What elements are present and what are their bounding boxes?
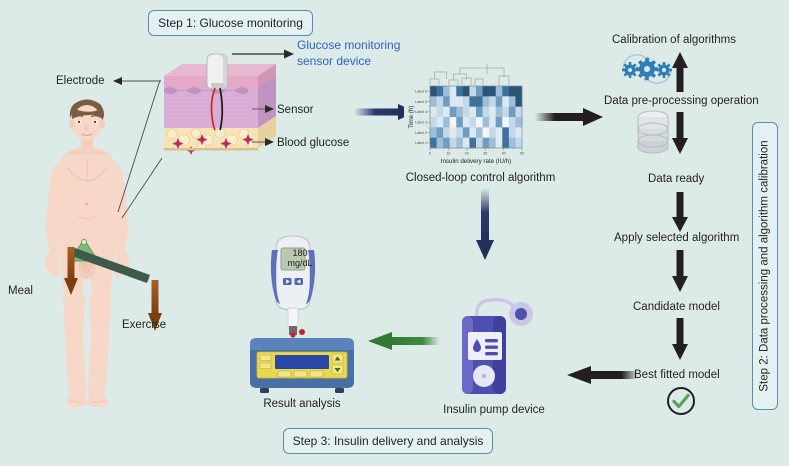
heatmap-cell xyxy=(463,127,470,138)
arrow-down-to-data-ready xyxy=(672,112,688,154)
heatmap-cell xyxy=(450,117,457,128)
heatmap-xtick: 50 xyxy=(520,152,524,156)
best-fitted-model-label: Best fitted model xyxy=(634,368,720,382)
heatmap-cell xyxy=(469,117,476,128)
heatmap-cell xyxy=(469,138,476,149)
sensor-device-arrow xyxy=(232,49,294,59)
step3-label-box: Step 3: Insulin delivery and analysis xyxy=(283,428,493,454)
heatmap-cell xyxy=(509,138,516,149)
sensor-device-icon xyxy=(207,54,227,89)
heatmap-cell xyxy=(463,107,470,118)
analyzer-illustration xyxy=(244,330,360,398)
heatmap-cell xyxy=(437,138,444,149)
step2-label-box: Step 2: Data processing and algorithm ca… xyxy=(752,122,778,410)
heatmap-cell xyxy=(450,96,457,107)
heatmap-cell xyxy=(450,138,457,149)
step3-label: Step 3: Insulin delivery and analysis xyxy=(293,434,484,448)
heatmap-ytick: Label 1 xyxy=(415,141,427,145)
heatmap-cell xyxy=(509,117,516,128)
heatmap-cell xyxy=(443,127,450,138)
heatmap-cell xyxy=(509,86,516,97)
heatmap-cell xyxy=(489,96,496,107)
heatmap-chart: Label 6Label 5Label 4Label 3Label 2Label… xyxy=(404,58,534,166)
heatmap-cell xyxy=(469,127,476,138)
heatmap-cell xyxy=(489,138,496,149)
heatmap-cells xyxy=(430,86,522,148)
human-legs-illustration xyxy=(28,296,146,408)
heatmap-cell xyxy=(515,127,522,138)
heatmap-xtick: 30 xyxy=(483,152,487,156)
arrow-up-to-calibration xyxy=(672,52,688,92)
heatmap-cell xyxy=(463,117,470,128)
heatmap-cell xyxy=(437,127,444,138)
arrow-down-to-best-model xyxy=(672,318,688,360)
heatmap-cell xyxy=(509,107,516,118)
heatmap-cell xyxy=(463,86,470,97)
heatmap-cell xyxy=(430,96,437,107)
heatmap-cell xyxy=(476,138,483,149)
heatmap-cell xyxy=(489,127,496,138)
heatmap-cell xyxy=(443,138,450,149)
sensor-label: Sensor xyxy=(277,103,313,117)
database-icon xyxy=(636,110,670,154)
heatmap-ytick: Label 3 xyxy=(415,121,427,125)
heatmap-ytick: Label 5 xyxy=(415,100,427,104)
heatmap-cell xyxy=(437,86,444,97)
heatmap-cell xyxy=(483,127,490,138)
arrow-down-to-apply xyxy=(672,192,688,232)
heatmap-cell xyxy=(469,86,476,97)
heatmap-cell xyxy=(476,96,483,107)
heatmap-cell xyxy=(509,96,516,107)
heatmap-cell xyxy=(443,86,450,97)
electrode-arrow xyxy=(113,76,161,86)
heatmap-xlabel: Insulin delivery rate (IU/h) xyxy=(441,158,512,165)
heatmap-cell xyxy=(489,117,496,128)
heatmap-ytick: Label 4 xyxy=(415,110,427,114)
heatmap-ytick: Label 6 xyxy=(415,90,427,94)
heatmap-cell xyxy=(515,96,522,107)
arrow-chart-to-pipeline xyxy=(535,108,603,126)
meal-label: Meal xyxy=(8,284,33,298)
heatmap-cell xyxy=(463,96,470,107)
heatmap-cell xyxy=(515,107,522,118)
electrode-label: Electrode xyxy=(56,74,105,88)
heatmap-xtick: 20 xyxy=(465,152,469,156)
result-analysis-caption: Result analysis xyxy=(236,398,368,410)
insulin-pump-caption: Insulin pump device xyxy=(424,404,564,416)
heatmap-cell xyxy=(496,86,503,97)
arrow-pump-to-analysis xyxy=(368,332,440,350)
heatmap-cell xyxy=(437,107,444,118)
heatmap-cell xyxy=(489,86,496,97)
heatmap-cell xyxy=(469,96,476,107)
step1-label-box: Step 1: Glucose monitoring xyxy=(148,10,313,36)
apply-algorithm-label: Apply selected algorithm xyxy=(614,231,739,245)
zoom-leader-lines xyxy=(100,80,170,240)
insulin-pump-illustration xyxy=(448,296,540,400)
arrow-model-to-pump xyxy=(567,366,639,384)
heatmap-cell xyxy=(502,117,509,128)
heatmap-cell xyxy=(450,107,457,118)
heatmap-cell xyxy=(489,107,496,118)
heatmap-cell xyxy=(456,117,463,128)
step2-label: Step 2: Data processing and algorithm ca… xyxy=(759,140,771,391)
heatmap-cell xyxy=(496,117,503,128)
glucometer-reading: 180 mg/dL xyxy=(281,248,319,269)
glucometer-value: 180 xyxy=(281,248,319,258)
chart-caption: Closed-loop control algorithm xyxy=(398,172,563,184)
calibration-label: Calibration of algorithms xyxy=(612,33,736,47)
arrow-chart-to-pump xyxy=(476,188,494,260)
heatmap-cell xyxy=(509,127,516,138)
heatmap-cell xyxy=(443,96,450,107)
heatmap-cell xyxy=(456,96,463,107)
data-ready-label: Data ready xyxy=(648,172,704,186)
heatmap-cell xyxy=(443,107,450,118)
candidate-model-label: Candidate model xyxy=(633,300,720,314)
heatmap-cell xyxy=(430,127,437,138)
heatmap-cell xyxy=(463,138,470,149)
heatmap-cell xyxy=(496,138,503,149)
heatmap-cell xyxy=(496,127,503,138)
heatmap-cell xyxy=(515,86,522,97)
heatmap-cell xyxy=(515,117,522,128)
blood-glucose-arrow xyxy=(252,137,274,147)
heatmap-cell xyxy=(496,96,503,107)
heatmap-cell xyxy=(476,86,483,97)
heatmap-cell xyxy=(456,107,463,118)
heatmap-cell xyxy=(496,107,503,118)
sensor-arrow xyxy=(252,104,274,114)
arrow-down-to-candidate xyxy=(672,250,688,292)
heatmap-ytick: Label 2 xyxy=(415,131,427,135)
meal-arrow xyxy=(64,247,78,297)
heatmap-cell xyxy=(456,138,463,149)
heatmap-cell xyxy=(502,138,509,149)
heatmap-cell xyxy=(483,107,490,118)
heatmap-cell xyxy=(483,138,490,149)
heatmap-cell xyxy=(483,96,490,107)
glucometer-unit: mg/dL xyxy=(281,258,319,268)
diagram-canvas: Step 1: Glucose monitoring xyxy=(0,0,789,466)
heatmap-cell xyxy=(430,117,437,128)
heatmap-cell xyxy=(502,107,509,118)
step1-label: Step 1: Glucose monitoring xyxy=(158,16,303,30)
heatmap-cell xyxy=(476,127,483,138)
heatmap-cell xyxy=(483,86,490,97)
sensor-device-callout-line1: Glucose monitoring xyxy=(297,38,427,54)
heatmap-cell xyxy=(430,86,437,97)
heatmap-xtick: 0 xyxy=(429,152,431,156)
heatmap-cell xyxy=(515,138,522,149)
gears-icon xyxy=(618,52,676,86)
heatmap-cell xyxy=(437,117,444,128)
heatmap-cell xyxy=(430,138,437,149)
heatmap-cell xyxy=(456,127,463,138)
preprocessing-label: Data pre-processing operation xyxy=(604,94,759,108)
heatmap-cell xyxy=(502,127,509,138)
blood-glucose-label: Blood glucose xyxy=(277,136,349,150)
heatmap-cell xyxy=(502,86,509,97)
heatmap-xtick: 40 xyxy=(502,152,506,156)
heatmap-cell xyxy=(450,127,457,138)
heatmap-cell xyxy=(483,117,490,128)
heatmap-cell xyxy=(437,96,444,107)
check-circle-icon xyxy=(666,386,696,416)
heatmap-cell xyxy=(502,96,509,107)
heatmap-ylabel: Time (h) xyxy=(408,106,415,129)
heatmap-cell xyxy=(456,86,463,97)
heatmap-cell xyxy=(450,86,457,97)
heatmap-cell xyxy=(430,107,437,118)
heatmap-cell xyxy=(469,107,476,118)
heatmap-cell xyxy=(476,107,483,118)
heatmap-xtick: 10 xyxy=(446,152,450,156)
heatmap-cell xyxy=(443,117,450,128)
heatmap-cell xyxy=(476,117,483,128)
exercise-label: Exercise xyxy=(122,318,166,332)
